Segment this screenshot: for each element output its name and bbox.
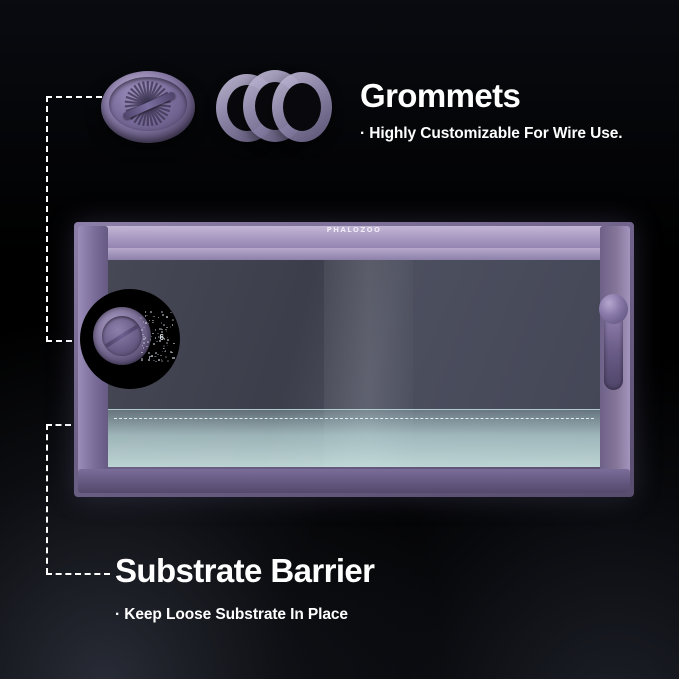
grommet-zoom-label: 6 (160, 333, 164, 342)
grommet-ring-3 (272, 72, 332, 142)
brand-logo: PHALOZOO (74, 226, 634, 234)
substrate-bullet: · Keep Loose Substrate In Place (115, 606, 348, 624)
callout-line-substrate-bottom (46, 573, 110, 575)
enclosure-side-grommet-cap (599, 294, 628, 324)
substrate-barrier-dashed-line (114, 418, 594, 419)
enclosure-bottom-rail (78, 469, 630, 493)
callout-line-grommets-top (46, 96, 102, 98)
enclosure-glass-panel (108, 256, 600, 467)
product-feature-image: PHALOZOO 6 Grommets · Highly Customizabl… (0, 0, 679, 679)
grommet-zoom-bubble: 6 (80, 289, 180, 389)
grommets-bullet: · Highly Customizable For Wire Use. (360, 125, 622, 143)
enclosure-top-rail-inner (108, 248, 600, 260)
grommet-cap-icon (101, 71, 195, 143)
grommets-title: Grommets (360, 76, 520, 116)
callout-line-grommets-vertical (46, 96, 48, 342)
grommet-closeup-texture-dots (140, 311, 174, 361)
grommet-ring-3-hole (283, 83, 321, 131)
substrate-title: Substrate Barrier (115, 551, 374, 591)
callout-line-substrate-vertical (46, 424, 48, 574)
